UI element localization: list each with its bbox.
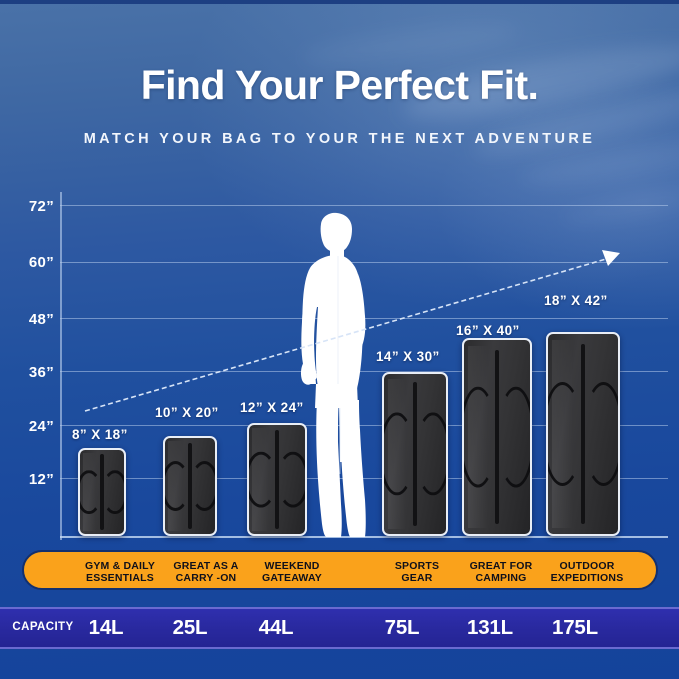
bag-bar-2[interactable] [163, 436, 217, 536]
use-case-2-line1: GREAT AS A [173, 560, 238, 573]
use-case-1-line1: GYM & DAILY [85, 560, 155, 573]
use-case-4-line1: SPORTS [395, 560, 439, 573]
infographic-canvas: Find Your Perfect Fit. MATCH YOUR BAG TO… [0, 0, 679, 679]
bag-spine [495, 350, 498, 525]
bag-bar-5[interactable] [462, 338, 532, 536]
bag-bar-4[interactable] [382, 372, 448, 536]
bag-lobe-right [583, 382, 620, 486]
gridline-72 [60, 205, 668, 206]
use-case-bar: GYM & DAILY ESSENTIALS GREAT AS A CARRY … [22, 550, 658, 590]
capacity-bar: CAPACITY 14L 25L 44L 75L 131L 175L [0, 607, 679, 649]
capacity-value-6: 175L [532, 616, 618, 640]
use-case-3-line2: GATEAWAY [262, 572, 322, 585]
use-case-5-line2: CAMPING [476, 572, 527, 585]
bag-size-label-6: 18” X 42” [544, 293, 608, 308]
use-case-3[interactable]: WEEKEND GATEAWAY [232, 552, 352, 592]
y-tick-36: 36” [8, 364, 54, 381]
capacity-value-3: 44L [236, 616, 316, 640]
bag-lobe-left [546, 382, 583, 486]
y-tick-24: 24” [8, 418, 54, 435]
use-case-1-line2: ESSENTIALS [86, 572, 154, 585]
use-case-4-line2: GEAR [401, 572, 432, 585]
capacity-value-4: 75L [362, 616, 442, 640]
trend-arrow-head-icon [602, 250, 620, 266]
y-tick-12: 12” [8, 471, 54, 488]
y-axis [60, 192, 62, 540]
bag-lobe-right [190, 461, 217, 511]
use-case-3-line1: WEEKEND [264, 560, 319, 573]
bag-lobe-left [247, 451, 277, 508]
capacity-value-1: 14L [66, 616, 146, 640]
bag-lobe-right [102, 470, 126, 514]
y-tick-48: 48” [8, 311, 54, 328]
bag-spine [413, 382, 416, 526]
bag-size-label-5: 16” X 40” [456, 323, 520, 338]
use-case-6-line1: OUTDOOR [559, 560, 614, 573]
bag-size-label-1: 8” X 18” [72, 427, 128, 442]
y-tick-60: 60” [8, 254, 54, 271]
bag-spine [188, 443, 191, 529]
y-tick-72: 72” [8, 198, 54, 215]
bag-size-label-2: 10” X 20” [155, 405, 219, 420]
use-case-5-line1: GREAT FOR [470, 560, 533, 573]
bag-lobe-right [415, 412, 448, 495]
bag-spine [275, 430, 278, 528]
bag-bar-1[interactable] [78, 448, 126, 536]
use-case-2-line2: CARRY -ON [176, 572, 237, 585]
capacity-value-2: 25L [150, 616, 230, 640]
bag-lobe-left [163, 461, 190, 511]
bag-lobe-right [497, 387, 532, 488]
bag-lobe-left [78, 470, 102, 514]
bag-bar-6[interactable] [546, 332, 620, 536]
bag-spine [581, 344, 584, 524]
capacity-value-5: 131L [447, 616, 533, 640]
use-case-6[interactable]: OUTDOOR EXPEDITIONS [525, 552, 649, 592]
bag-spine [100, 454, 103, 530]
use-case-6-line2: EXPEDITIONS [551, 572, 624, 585]
human-silhouette-icon [282, 212, 390, 538]
bag-lobe-left [462, 387, 497, 488]
